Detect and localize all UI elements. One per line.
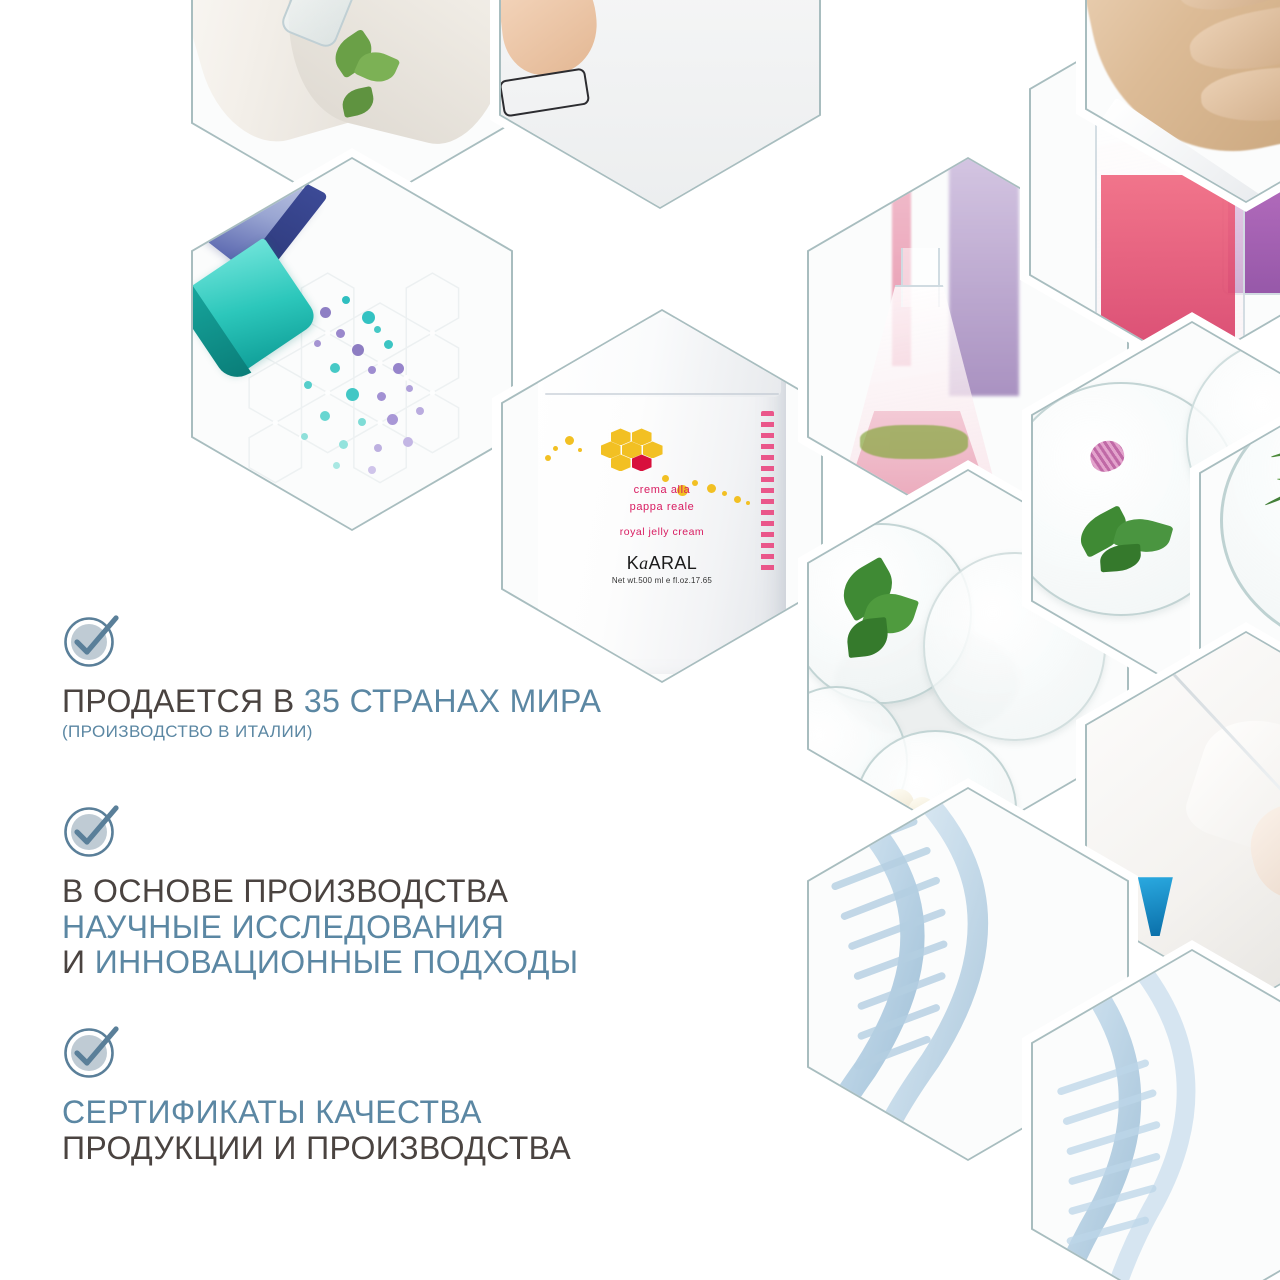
jar-brand-logo: KaARAL — [538, 553, 786, 574]
check-circle-icon — [62, 802, 120, 860]
jar-line-italian-2: pappa reale — [538, 501, 786, 513]
feature-segment: ПРОДАЕТСЯ В — [62, 683, 304, 719]
feature-line: И ИННОВАЦИОННЫЕ ПОДХОДЫ — [62, 945, 762, 981]
hex-powder-pour-honeycomb — [182, 148, 522, 540]
jar-line-english: royal jelly cream — [538, 526, 786, 538]
brand-italic-a: a — [639, 553, 648, 573]
feature-subtitle: (ПРОИЗВОДСТВО В ИТАЛИИ) — [62, 722, 762, 742]
feature-item-research: В ОСНОВЕ ПРОИЗВОДСТВА НАУЧНЫЕ ИССЛЕДОВАН… — [62, 802, 762, 981]
check-circle-icon — [62, 1023, 120, 1081]
jar-net-weight: Net wt.500 ml e fl.oz.17.65 — [538, 576, 786, 585]
feature-segment: ПРОДУКЦИИ И ПРОИЗВОДСТВА — [62, 1130, 571, 1166]
feature-item-certificates: СЕРТИФИКАТЫ КАЧЕСТВА ПРОДУКЦИИ И ПРОИЗВО… — [62, 1023, 762, 1167]
hex-scientist-microscope — [490, 0, 830, 218]
feature-line: НАУЧНЫЕ ИССЛЕДОВАНИЯ — [62, 910, 762, 946]
feature-list: ПРОДАЕТСЯ В 35 СТРАНАХ МИРА (ПРОИЗВОДСТВ… — [62, 612, 762, 1175]
feature-segment: В ОСНОВЕ ПРОИЗВОДСТВА — [62, 873, 508, 909]
poster-canvas: crema alla pappa reale royal jelly cream… — [0, 0, 1280, 1280]
brand-prefix: K — [627, 553, 639, 573]
feature-line: В ОСНОВЕ ПРОИЗВОДСТВА — [62, 874, 762, 910]
feature-item-countries: ПРОДАЕТСЯ В 35 СТРАНАХ МИРА (ПРОИЗВОДСТВ… — [62, 612, 762, 742]
feature-segment-accent: 35 СТРАНАХ МИРА — [304, 683, 602, 719]
feature-line: СЕРТИФИКАТЫ КАЧЕСТВА — [62, 1095, 762, 1131]
feature-segment: И — [62, 944, 95, 980]
feature-line: ПРОДАЕТСЯ В 35 СТРАНАХ МИРА — [62, 684, 762, 720]
feature-line: ПРОДУКЦИИ И ПРОИЗВОДСТВА — [62, 1131, 762, 1167]
feature-segment-accent: ИННОВАЦИОННЫЕ ПОДХОДЫ — [95, 944, 579, 980]
feature-segment-accent: НАУЧНЫЕ ИССЛЕДОВАНИЯ — [62, 909, 504, 945]
check-circle-icon — [62, 612, 120, 670]
feature-segment-accent: СЕРТИФИКАТЫ КАЧЕСТВА — [62, 1094, 482, 1130]
jar-line-italian-1: crema alla — [538, 484, 786, 496]
brand-suffix: ARAL — [649, 553, 698, 573]
